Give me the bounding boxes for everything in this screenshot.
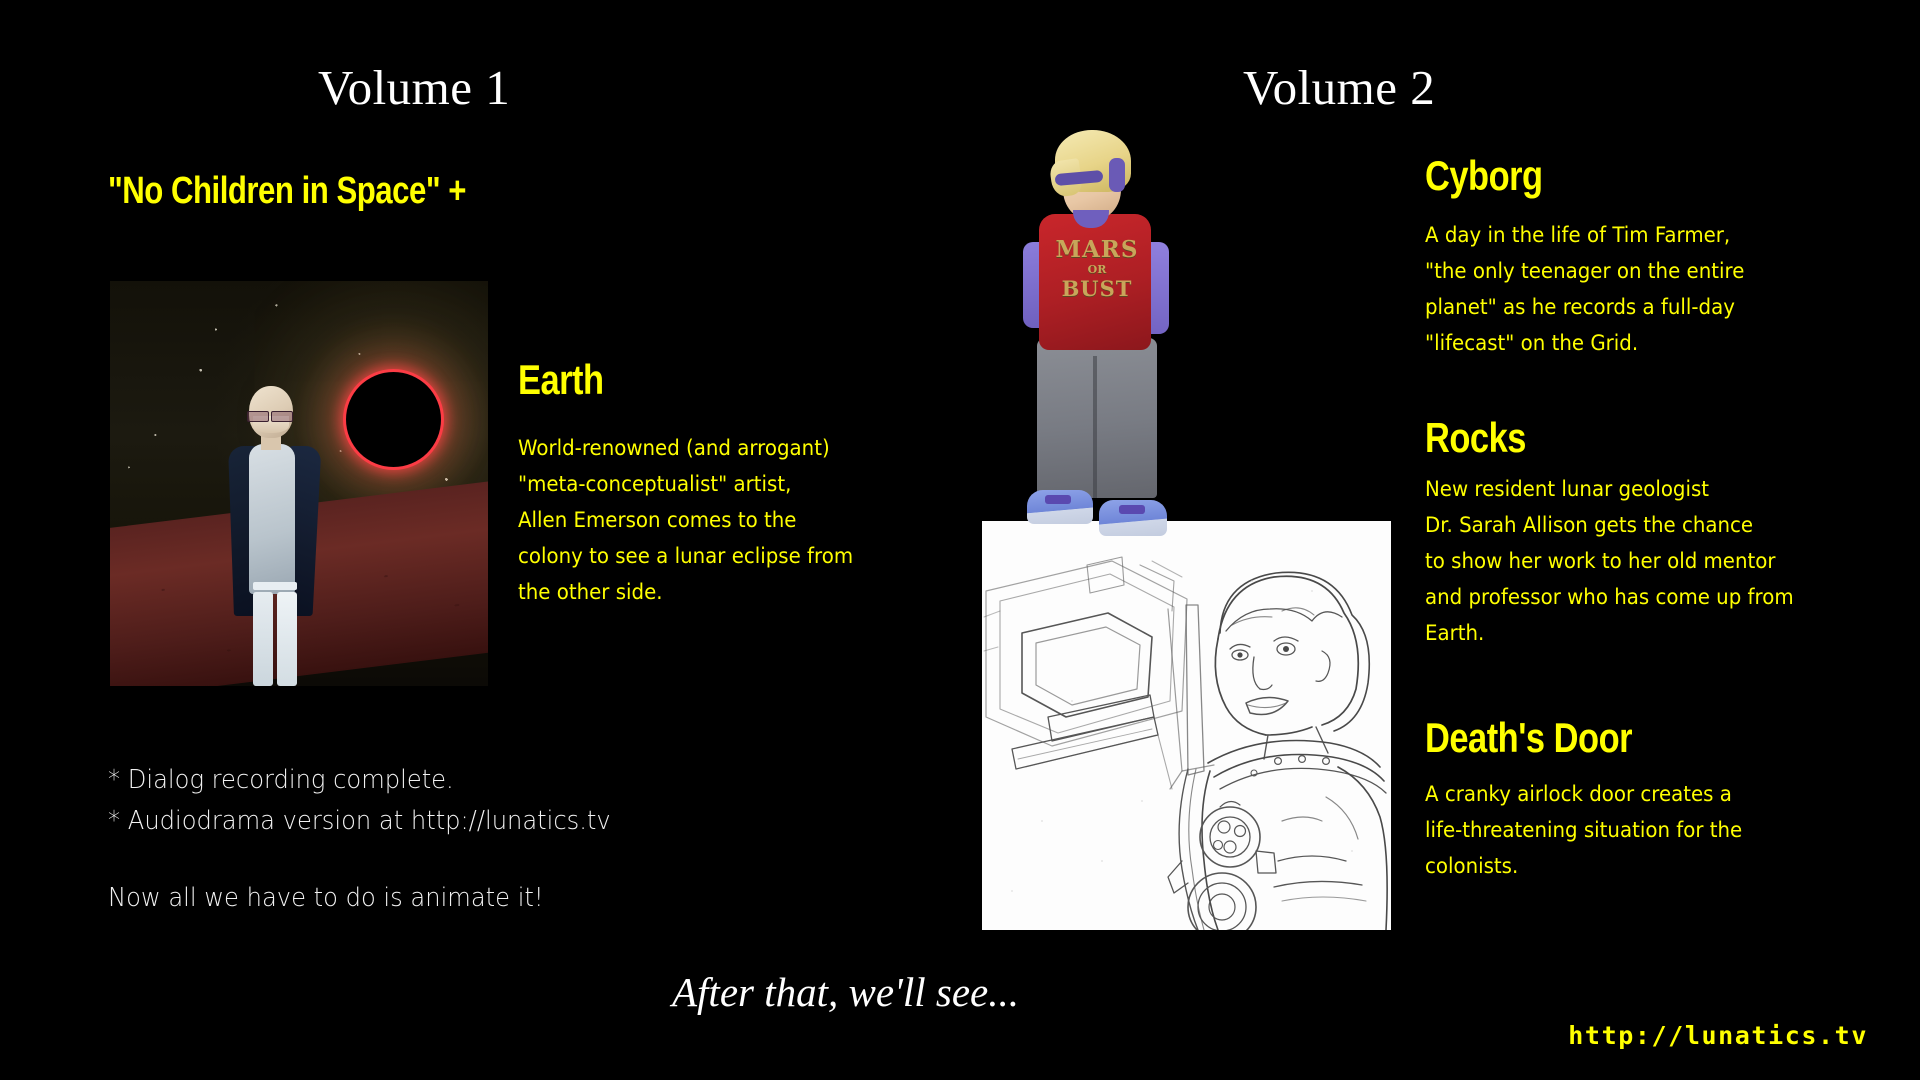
- episode-body-rocks: New resident lunar geologist Dr. Sarah A…: [1425, 472, 1857, 652]
- belt: [253, 582, 297, 590]
- volume-1-subtitle: "No Children in Space" +: [108, 170, 466, 213]
- production-notes: * Dialog recording complete. * Audiodram…: [108, 760, 815, 842]
- episode-heading-rocks: Rocks: [1425, 414, 1526, 462]
- eclipse-scene-image: [110, 281, 488, 686]
- shirt: [249, 444, 295, 594]
- volume-1-title: Volume 1: [318, 59, 510, 116]
- airlock-sketch-image: [982, 521, 1391, 930]
- pants: [1037, 338, 1157, 498]
- tim-farmer-character-image: MARS OR BUST: [1011, 130, 1211, 545]
- shoe-left: [1027, 490, 1093, 524]
- shirt-logo-line2: OR: [1055, 264, 1139, 275]
- episode-heading-deaths-door: Death's Door: [1425, 714, 1632, 762]
- shirt-logo: MARS OR BUST: [1055, 238, 1139, 299]
- closing-tagline: After that, we'll see...: [672, 968, 1019, 1016]
- airlock-sketch-drawing: [982, 521, 1391, 930]
- shoe-right: [1099, 500, 1167, 536]
- animate-note: Now all we have to do is animate it!: [108, 878, 815, 919]
- glasses-icon: [245, 411, 297, 420]
- shirt-logo-line3: BUST: [1055, 278, 1139, 299]
- episode-heading-earth: Earth: [518, 356, 604, 404]
- site-url[interactable]: http://lunatics.tv: [1568, 1021, 1868, 1050]
- episode-body-deaths-door: A cranky airlock door creates a life-thr…: [1425, 777, 1857, 885]
- shirt-logo-line1: MARS: [1055, 238, 1139, 261]
- episode-body-earth: World-renowned (and arrogant) "meta-conc…: [518, 431, 941, 611]
- earpiece-icon: [1109, 158, 1125, 192]
- leg-left: [253, 592, 273, 686]
- volume-2-title: Volume 2: [1243, 59, 1435, 116]
- episode-heading-cyborg: Cyborg: [1425, 152, 1543, 200]
- leg-right: [277, 592, 297, 686]
- eclipse-disc-icon: [346, 372, 441, 467]
- slide-root: Volume 1 "No Children in Space" + Earth …: [0, 0, 1920, 1080]
- episode-body-cyborg: A day in the life of Tim Farmer, "the on…: [1425, 218, 1857, 362]
- allen-emerson-figure: [223, 386, 335, 686]
